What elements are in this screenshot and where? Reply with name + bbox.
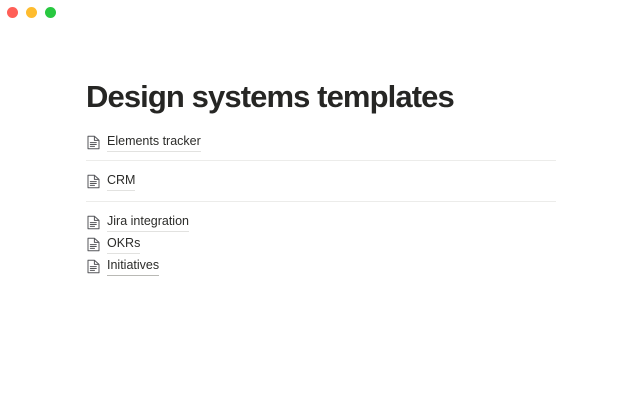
app-window: Design systems templates Elements tracke… xyxy=(0,0,640,400)
list-item[interactable]: Initiatives xyxy=(86,255,556,277)
list-item-label: CRM xyxy=(107,172,135,191)
list-divider xyxy=(86,201,556,202)
page-title: Design systems templates xyxy=(86,80,556,114)
list-item-label: Elements tracker xyxy=(107,133,201,152)
list-item[interactable]: CRM xyxy=(86,170,556,192)
list-item[interactable]: Jira integration xyxy=(86,211,556,233)
document-icon xyxy=(86,258,100,274)
list-item-label: Initiatives xyxy=(107,257,159,276)
document-icon xyxy=(86,236,100,252)
list-item-label: Jira integration xyxy=(107,213,189,232)
page-content: Design systems templates Elements tracke… xyxy=(0,0,640,400)
list-item[interactable]: OKRs xyxy=(86,233,556,255)
document-list: Elements tracker CRM xyxy=(86,131,556,277)
document-icon xyxy=(86,214,100,230)
list-item[interactable]: Elements tracker xyxy=(86,131,556,153)
document-icon xyxy=(86,173,100,189)
document-icon xyxy=(86,134,100,150)
list-item-label: OKRs xyxy=(107,235,140,254)
list-divider xyxy=(86,160,556,161)
